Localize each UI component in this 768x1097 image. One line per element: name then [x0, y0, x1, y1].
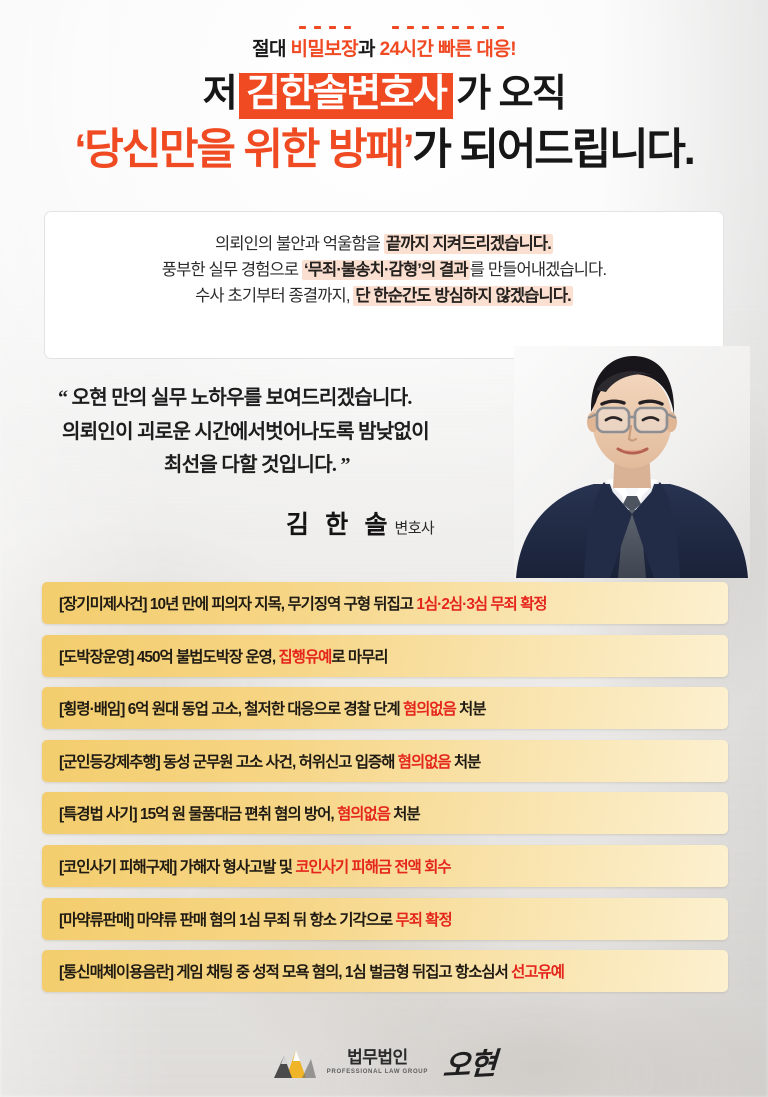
promise-card: 의뢰인의 불안과 억울함을 끝까지 지켜드리겠습니다. 풍부한 실무 경험으로 … — [44, 211, 724, 359]
promise-line-2-highlight: ‘무죄·불송치·감형’의 결과 — [302, 260, 470, 280]
case-label: [장기미제사건] 10년 만에 피의자 지목, 무기징역 구형 뒤집고 — [59, 596, 416, 613]
quote-line-1: “ 오현 만의 실무 노하우를 보여드리겠습니다. — [0, 382, 540, 416]
case-tail: 처분 — [451, 754, 481, 771]
case-result-text: [횡령·배임] 6억 원대 동업 고소, 철저한 대응으로 경찰 단계 혐의없음… — [59, 697, 486, 719]
headline-row2-rest: 가 되어드립니다. — [412, 126, 693, 174]
case-outcome: 혐의없음 — [398, 754, 451, 771]
case-outcome: 무죄 확정 — [396, 912, 452, 929]
case-result-text: [코인사기 피해구제] 가해자 형사고발 및 코인사기 피해금 전액 회수 — [59, 855, 451, 877]
eyebrow-particle: 과 — [358, 39, 375, 60]
case-result-text: [도박장운영] 450억 불법도박장 운영, 집행유예로 마무리 — [59, 645, 388, 667]
case-tail: 처분 — [456, 701, 486, 718]
case-results-list: [장기미제사건] 10년 만에 피의자 지목, 무기징역 구형 뒤집고 1심·2… — [42, 582, 728, 1003]
case-outcome: 1심·2심·3심 무죄 확정 — [416, 596, 546, 613]
case-outcome: 코인사기 피해금 전액 회수 — [295, 859, 450, 876]
list-item[interactable]: [도박장운영] 450억 불법도박장 운영, 집행유예로 마무리 — [42, 635, 728, 677]
headline-post: 가 오직 — [456, 73, 565, 115]
list-item[interactable]: [특경법 사기] 15억 원 물품대금 편취 혐의 방어, 혐의없음 처분 — [42, 792, 728, 834]
signature-role: 변호사 — [395, 521, 435, 537]
mountain-logo-icon — [272, 1044, 316, 1080]
promise-line-3-text: 수사 초기부터 종결까지, — [195, 287, 353, 305]
case-outcome: 혐의없음 — [403, 701, 456, 718]
case-outcome: 선고유예 — [511, 964, 564, 981]
case-result-text: [장기미제사건] 10년 만에 피의자 지목, 무기징역 구형 뒤집고 1심·2… — [59, 592, 547, 614]
headline: 저김한솔변호사가 오직 ‘당신만을 위한 방패’가 되어드립니다. — [0, 71, 768, 176]
list-item[interactable]: [장기미제사건] 10년 만에 피의자 지목, 무기징역 구형 뒤집고 1심·2… — [42, 582, 728, 624]
promise-line-2-tail: 를 만들어내겠습니다. — [470, 261, 606, 279]
promise-line-3: 수사 초기부터 종결까지, 단 한순간도 방심하지 않겠습니다. — [45, 283, 723, 309]
case-label: [횡령·배임] 6억 원대 동업 고소, 철저한 대응으로 경찰 단계 — [59, 701, 403, 718]
case-result-text: [통신매체이용음란] 게임 채팅 중 성적 모욕 혐의, 1심 벌금형 뒤집고 … — [59, 960, 564, 982]
list-item[interactable]: [통신매체이용음란] 게임 채팅 중 성적 모욕 혐의, 1심 벌금형 뒤집고 … — [42, 950, 728, 992]
headline-pre: 저 — [203, 73, 236, 115]
footer-logo: 법무법인 PROFESSIONAL LAW GROUP 오현 — [0, 1040, 768, 1084]
signature-name: 김 한 솔 — [286, 512, 393, 539]
eyebrow-accent-confidentiality: 비밀보장 — [291, 34, 359, 61]
headline-shield-phrase: ‘당신만을 위한 방패’ — [75, 126, 413, 174]
case-outcome: 혐의없음 — [337, 806, 390, 823]
case-tail: 로 마무리 — [331, 649, 387, 666]
case-result-text: [군인등강제추행] 동성 군무원 고소 사건, 허위신고 입증해 혐의없음 처분 — [59, 750, 480, 772]
quote-line-2: 의뢰인이 괴로운 시간에서벗어나도록 밤낮없이 — [0, 416, 540, 450]
promise-line-1-text: 의뢰인의 불안과 억울함을 — [215, 235, 384, 253]
promise-line-3-highlight: 단 한순간도 방심하지 않겠습니다. — [353, 286, 573, 306]
case-label: [코인사기 피해구제] 가해자 형사고발 및 — [59, 859, 295, 876]
logo-korean-label: 법무법인 — [347, 1049, 408, 1066]
headline-row-1: 저김한솔변호사가 오직 — [0, 71, 768, 119]
headline-lawyer-name-highlight: 김한솔변호사 — [239, 73, 453, 119]
promise-line-2-text: 풍부한 실무 경험으로 — [162, 261, 302, 279]
lawyer-portrait-photo — [514, 346, 750, 578]
promise-line-2: 풍부한 실무 경험으로 ‘무죄·불송치·감형’의 결과를 만들어내겠습니다. — [45, 257, 723, 283]
logo-brand-name: 오현 — [442, 1039, 498, 1086]
promise-line-1: 의뢰인의 불안과 억울함을 끝까지 지켜드리겠습니다. — [45, 231, 723, 257]
portrait-illustration — [514, 346, 750, 578]
case-label: [도박장운영] 450억 불법도박장 운영, — [59, 649, 279, 666]
poster-canvas: 절대 비밀보장과 24시간 빠른 대응! 저김한솔변호사가 오직 ‘당신만을 위… — [0, 0, 768, 1097]
case-label: [통신매체이용음란] 게임 채팅 중 성적 모욕 혐의, 1심 벌금형 뒤집고 … — [59, 964, 511, 981]
signature: 김 한 솔변호사 — [0, 505, 540, 541]
list-item[interactable]: [코인사기 피해구제] 가해자 형사고발 및 코인사기 피해금 전액 회수 — [42, 845, 728, 887]
case-label: [마약류판매] 마약류 판매 혐의 1심 무죄 뒤 항소 기각으로 — [59, 912, 396, 929]
promise-line-1-highlight: 끝까지 지켜드리겠습니다. — [384, 234, 553, 254]
eyebrow-accent-response: 24시간 빠른 대응! — [380, 34, 516, 61]
quote-line-3: 최선을 다할 것입니다. ” — [0, 449, 540, 483]
headline-row-2: ‘당신만을 위한 방패’가 되어드립니다. — [0, 126, 768, 176]
list-item[interactable]: [마약류판매] 마약류 판매 혐의 1심 무죄 뒤 항소 기각으로 무죄 확정 — [42, 898, 728, 940]
quote-block: “ 오현 만의 실무 노하우를 보여드리겠습니다. 의뢰인이 괴로운 시간에서벗… — [0, 382, 540, 541]
case-result-text: [특경법 사기] 15억 원 물품대금 편취 혐의 방어, 혐의없음 처분 — [59, 802, 420, 824]
logo-english-label: PROFESSIONAL LAW GROUP — [327, 1069, 428, 1075]
list-item[interactable]: [횡령·배임] 6억 원대 동업 고소, 철저한 대응으로 경찰 단계 혐의없음… — [42, 687, 728, 729]
case-label: [특경법 사기] 15억 원 물품대금 편취 혐의 방어, — [59, 806, 337, 823]
list-item[interactable]: [군인등강제추행] 동성 군무원 고소 사건, 허위신고 입증해 혐의없음 처분 — [42, 740, 728, 782]
case-result-text: [마약류판매] 마약류 판매 혐의 1심 무죄 뒤 항소 기각으로 무죄 확정 — [59, 908, 452, 930]
eyebrow-lead: 절대 — [252, 39, 286, 60]
case-tail: 처분 — [390, 806, 420, 823]
case-outcome: 집행유예 — [279, 649, 332, 666]
case-label: [군인등강제추행] 동성 군무원 고소 사건, 허위신고 입증해 — [59, 754, 398, 771]
logo-text-block: 법무법인 PROFESSIONAL LAW GROUP — [327, 1049, 428, 1075]
eyebrow-line: 절대 비밀보장과 24시간 빠른 대응! — [0, 0, 768, 61]
